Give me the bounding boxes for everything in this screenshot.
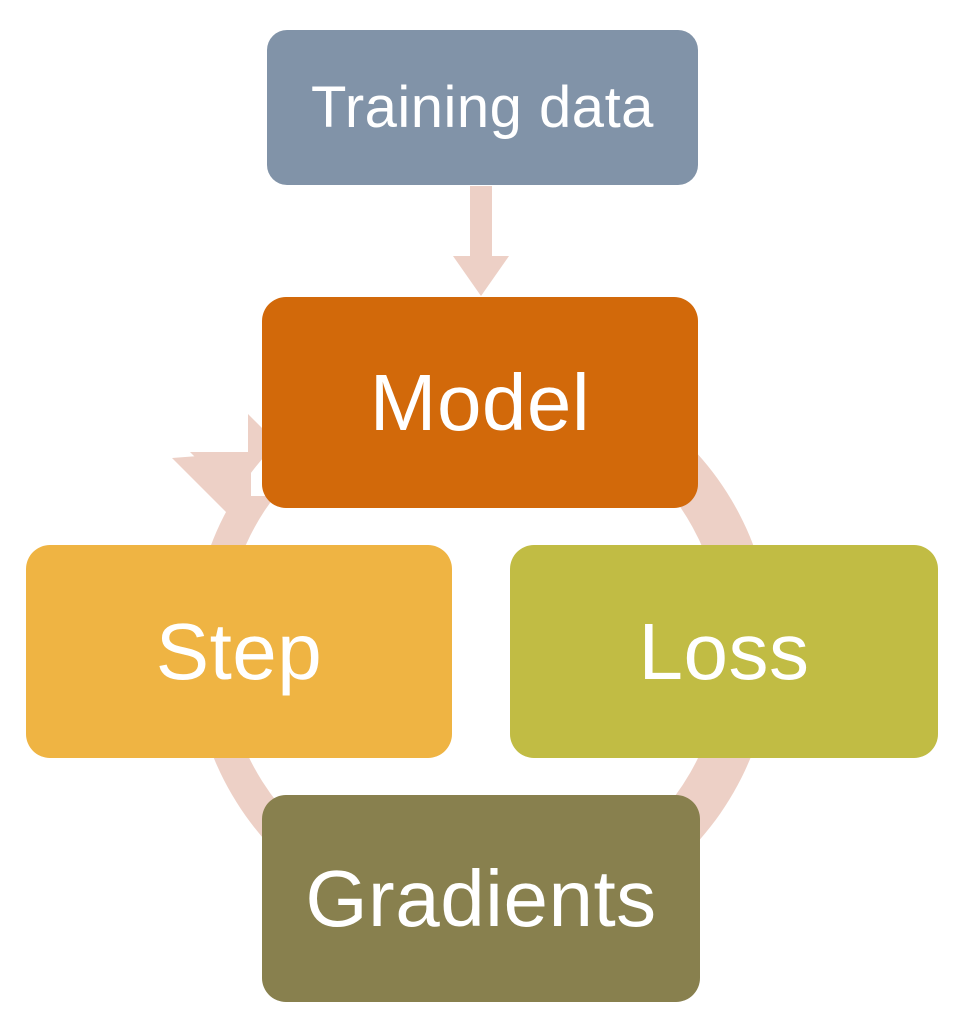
node-gradients-label: Gradients	[305, 859, 656, 939]
node-training-data-label: Training data	[311, 79, 654, 137]
node-training-data[interactable]: Training data	[267, 30, 698, 185]
node-step[interactable]: Step	[26, 545, 452, 758]
node-model[interactable]: Model	[262, 297, 698, 508]
cycle-arrowhead	[172, 452, 251, 530]
arrow-head-down-icon	[453, 256, 509, 296]
node-loss-label: Loss	[639, 612, 810, 692]
node-model-label: Model	[370, 363, 590, 443]
arrow-shaft	[470, 186, 492, 258]
node-loss[interactable]: Loss	[510, 545, 938, 758]
diagram-canvas: Training data Model Loss Gradients Step	[0, 0, 969, 1028]
node-step-label: Step	[156, 612, 323, 692]
node-gradients[interactable]: Gradients	[262, 795, 700, 1002]
